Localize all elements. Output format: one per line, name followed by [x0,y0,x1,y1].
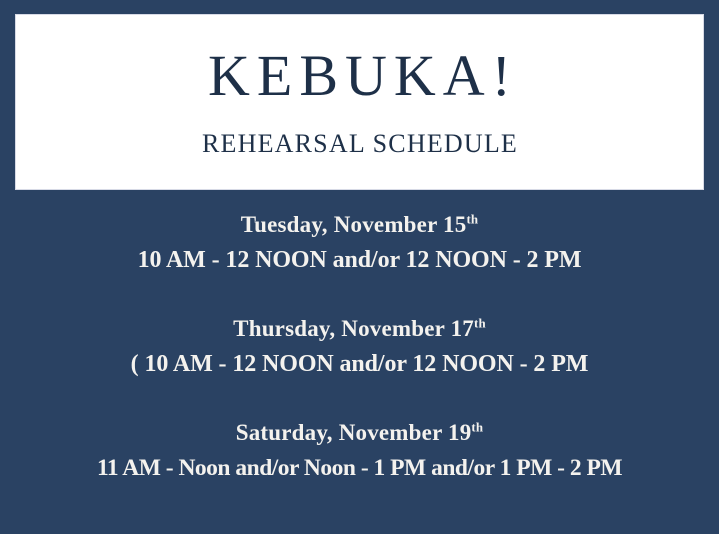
schedule-date-text: Tuesday, November 15 [241,212,467,237]
schedule-times: 10 AM - 12 NOON and/or 12 NOON - 2 PM [0,244,719,276]
schedule-date: Saturday, November 19th [0,418,719,447]
schedule-block: Saturday, November 19th 11 AM - Noon and… [0,418,719,484]
schedule-date-text: Saturday, November 19 [236,420,472,445]
page-subtitle: REHEARSAL SCHEDULE [201,131,518,157]
schedule-date-text: Thursday, November 17 [233,316,474,341]
schedule-date: Tuesday, November 15th [0,210,719,239]
rehearsal-schedule-poster: KEBUKA! REHEARSAL SCHEDULE Tuesday, Nove… [0,0,719,534]
schedule-times: ( 10 AM - 12 NOON and/or 12 NOON - 2 PM [0,348,719,380]
schedule-times: 11 AM - Noon and/or Noon - 1 PM and/or 1… [0,452,719,484]
schedule-date-ordinal: th [474,316,486,330]
schedule-date: Thursday, November 17th [0,314,719,343]
schedule-list: Tuesday, November 15th 10 AM - 12 NOON a… [0,190,719,534]
page-title: KEBUKA! [201,47,518,105]
schedule-block: Tuesday, November 15th 10 AM - 12 NOON a… [0,210,719,276]
header-banner: KEBUKA! REHEARSAL SCHEDULE [15,14,704,190]
schedule-block: Thursday, November 17th ( 10 AM - 12 NOO… [0,314,719,380]
schedule-date-ordinal: th [471,420,483,434]
schedule-date-ordinal: th [466,212,478,226]
